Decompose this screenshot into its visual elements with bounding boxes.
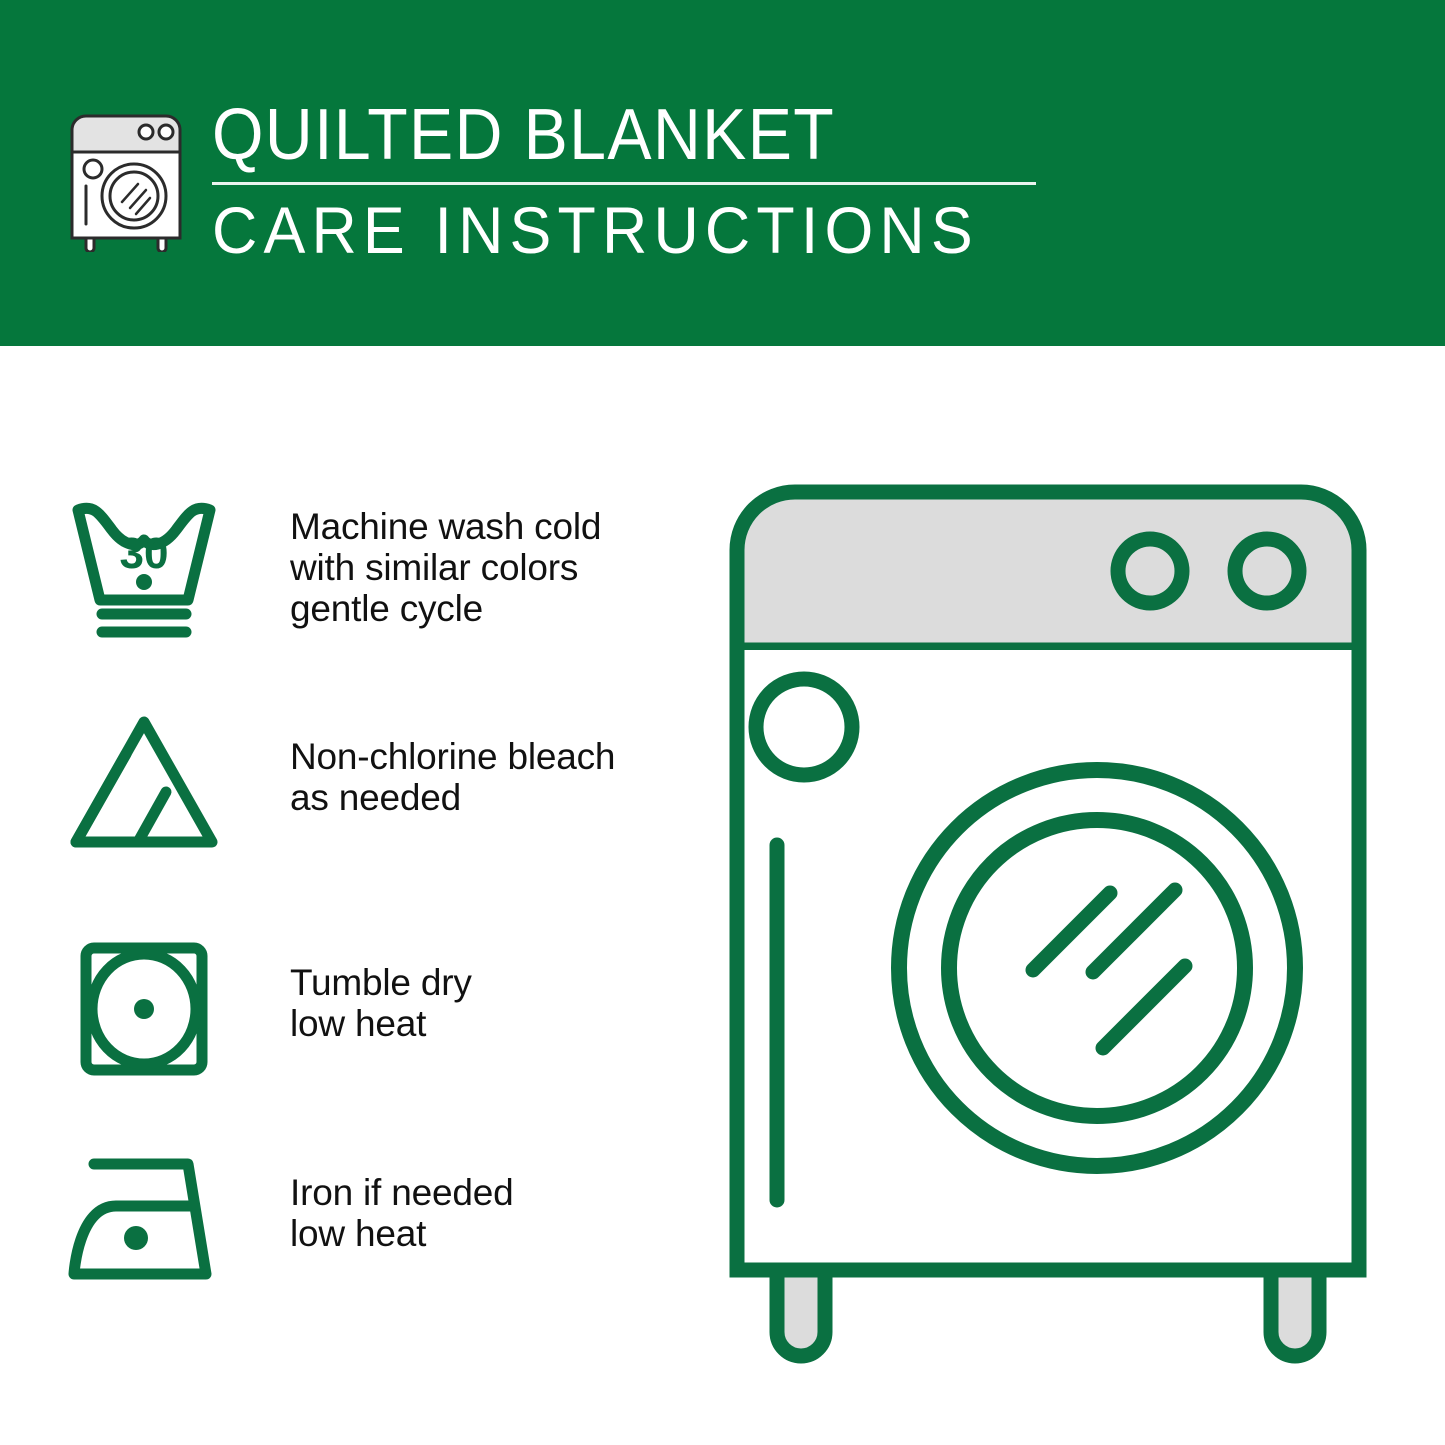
- care-line: with similar colors: [290, 547, 702, 588]
- care-line: Tumble dry: [290, 962, 702, 1003]
- leg-left: [777, 1270, 825, 1356]
- control-panel: [737, 492, 1359, 650]
- wash-temperature-label: 30: [120, 529, 169, 578]
- page-subtitle: CARE INSTRUCTIONS: [212, 194, 1001, 266]
- care-line: Non-chlorine bleach: [290, 736, 702, 777]
- care-line: low heat: [290, 1003, 702, 1044]
- page-title: QUILTED BLANKET: [212, 96, 976, 174]
- care-line: low heat: [290, 1213, 702, 1254]
- care-line: Iron if needed: [290, 1172, 702, 1213]
- care-line: as needed: [290, 777, 702, 818]
- care-line: gentle cycle: [290, 588, 702, 629]
- triangle-non-chlorine-bleach-icon: [62, 710, 226, 860]
- care-instructions-page: QUILTED BLANKET CARE INSTRUCTIONS 30: [0, 0, 1445, 1445]
- leg-right: [1271, 1270, 1319, 1356]
- front-load-washing-machine-illustration: [715, 470, 1415, 1380]
- care-text-machine-wash: Machine wash cold with similar colors ge…: [226, 492, 702, 629]
- care-row-bleach: Non-chlorine bleach as needed: [62, 710, 702, 860]
- care-row-tumble-dry: Tumble dry low heat: [62, 934, 702, 1084]
- header-banner: QUILTED BLANKET CARE INSTRUCTIONS: [0, 0, 1445, 346]
- care-text-bleach: Non-chlorine bleach as needed: [226, 710, 702, 818]
- care-text-iron: Iron if needed low heat: [226, 1144, 702, 1254]
- header-titles: QUILTED BLANKET CARE INSTRUCTIONS: [212, 96, 1042, 266]
- wash-tub-30-gentle-icon: 30: [62, 492, 226, 642]
- title-divider: [212, 182, 1036, 185]
- care-text-tumble-dry: Tumble dry low heat: [226, 934, 702, 1044]
- tumble-dry-low-icon: [62, 934, 226, 1084]
- iron-low-heat-icon: [62, 1144, 226, 1294]
- care-row-iron: Iron if needed low heat: [62, 1144, 702, 1294]
- care-instruction-list: 30 Machine wash cold with similar colors…: [0, 346, 720, 1445]
- care-line: Machine wash cold: [290, 506, 702, 547]
- washing-machine-icon: [62, 104, 190, 252]
- header-content: QUILTED BLANKET CARE INSTRUCTIONS: [62, 96, 992, 266]
- care-row-machine-wash: 30 Machine wash cold with similar colors…: [62, 492, 702, 642]
